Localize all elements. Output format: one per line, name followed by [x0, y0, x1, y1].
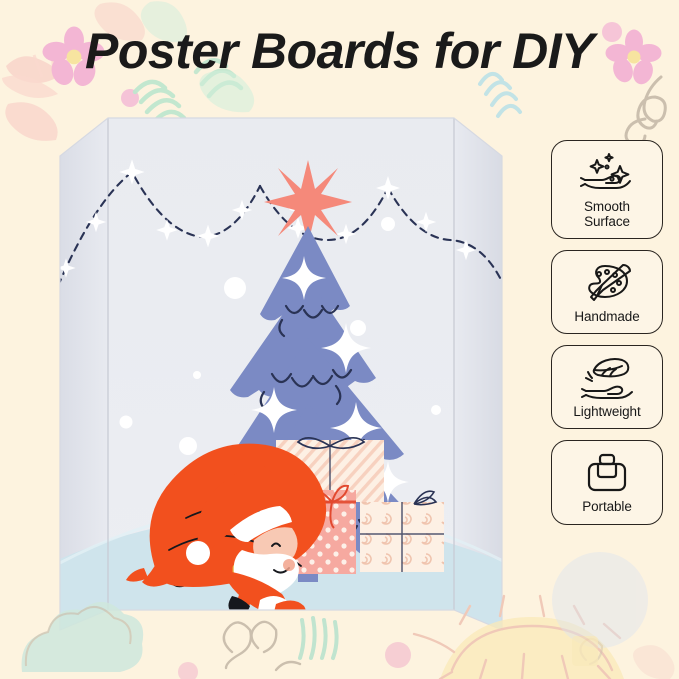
feature-label-line: Handmade — [574, 309, 639, 324]
feature-card-smooth-surface[interactable]: Smooth Surface — [551, 140, 663, 239]
trifold-poster-board — [36, 110, 526, 638]
spiral-doodle — [580, 639, 602, 664]
hand-sparkle-icon — [579, 150, 635, 196]
mint-scribble — [633, 645, 675, 679]
feature-card-portable[interactable]: Portable — [551, 440, 663, 524]
feature-card-label: Lightweight — [573, 404, 640, 419]
pink-dot — [385, 642, 411, 668]
pink-dot — [121, 89, 139, 107]
feature-label-line: Portable — [582, 499, 631, 514]
page-title: Poster Boards for DIY — [0, 22, 679, 80]
feature-card-lightweight[interactable]: Lightweight — [551, 345, 663, 429]
feature-card-label: Portable — [582, 499, 631, 514]
pink-dot — [552, 552, 648, 648]
briefcase-icon — [579, 450, 635, 496]
feature-card-handmade[interactable]: Handmade — [551, 250, 663, 334]
feature-label-line: Lightweight — [573, 404, 640, 419]
gift-box-swirls — [360, 491, 444, 572]
pink-dot — [178, 662, 198, 679]
feather-on-hand-icon — [579, 355, 635, 401]
feature-card-label: Smooth Surface — [584, 199, 630, 229]
feature-card-label: Handmade — [574, 309, 639, 324]
sun-doodle — [572, 636, 598, 666]
feature-card-list: Smooth Surface Handmade — [551, 140, 671, 525]
product-listing-image: Poster Boards for DIY — [0, 0, 679, 679]
spiral-doodle — [626, 77, 665, 145]
paint-palette-brush-icon — [579, 260, 635, 306]
feature-label-line: Surface — [584, 214, 630, 229]
feature-label-line: Smooth — [584, 199, 630, 214]
